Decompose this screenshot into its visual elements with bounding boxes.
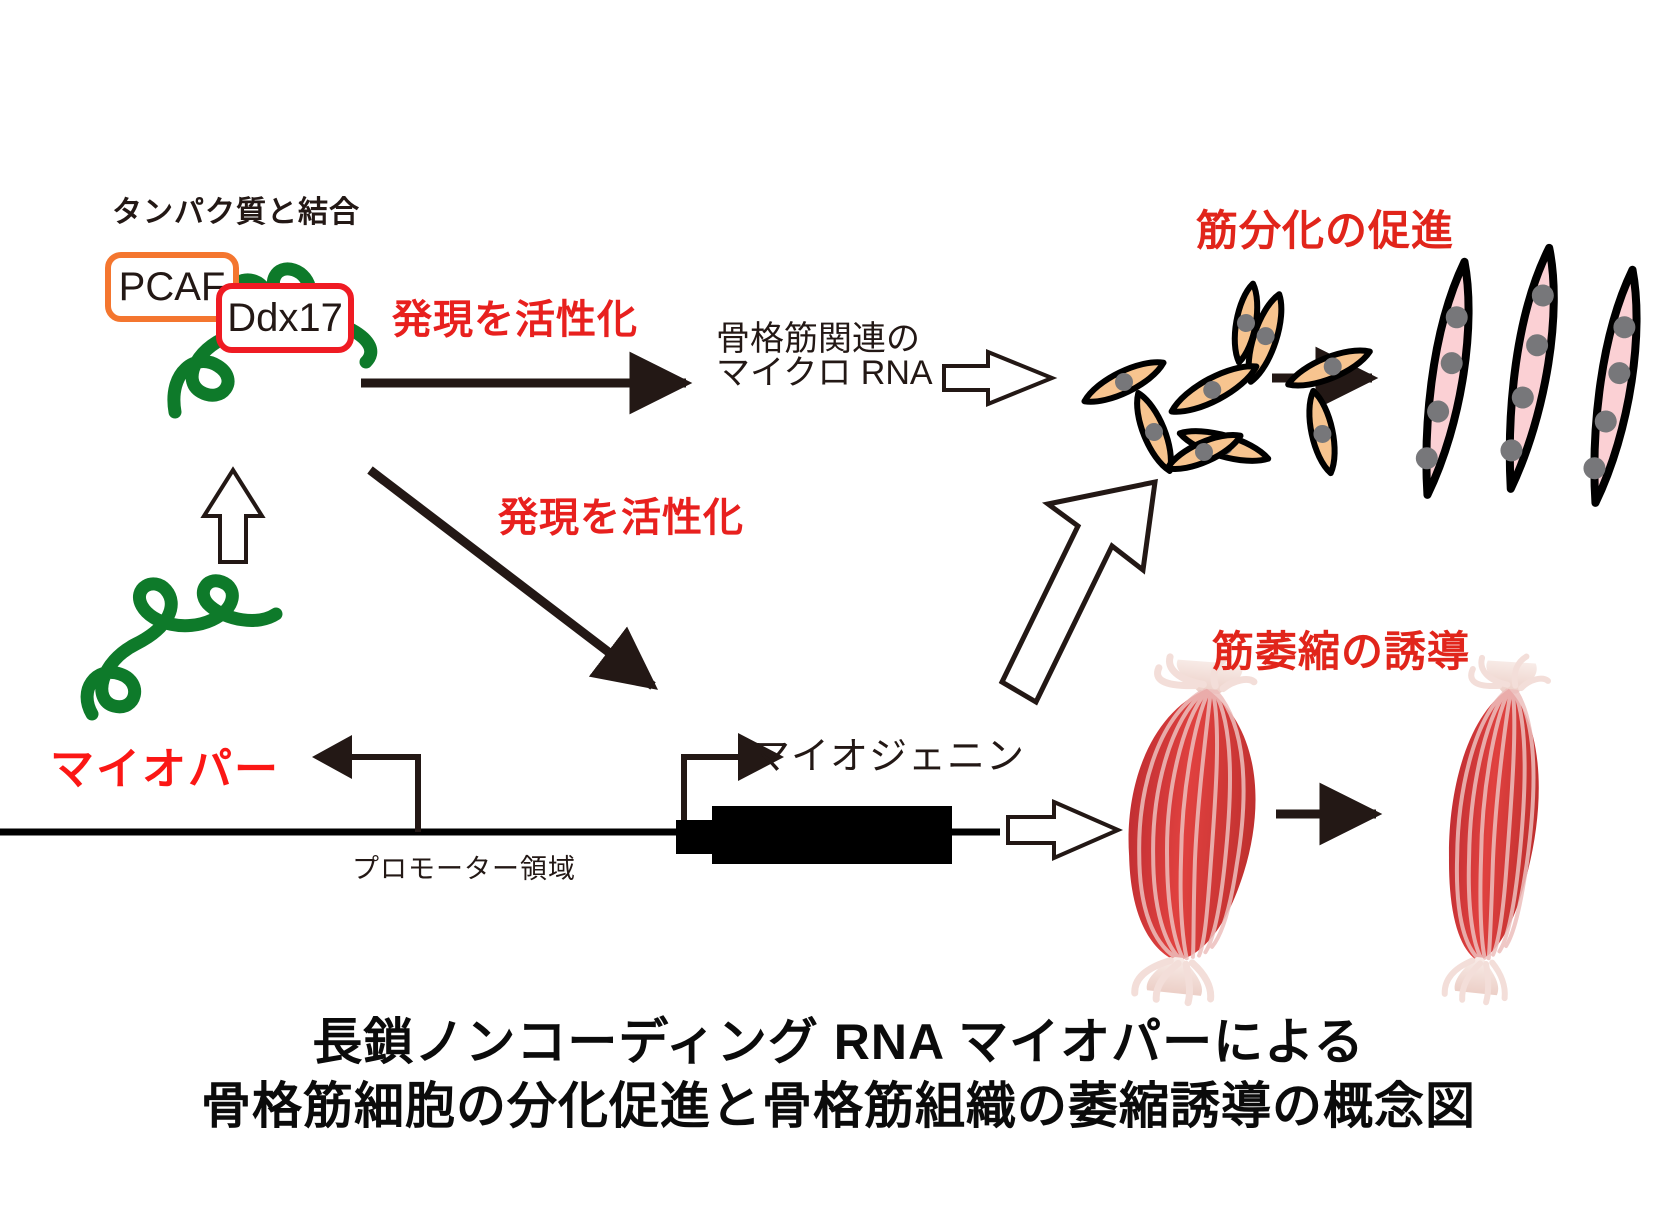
figure-caption: 長鎖ノンコーディング RNA マイオパーによる 骨格筋細胞の分化促進と骨格筋組織… — [0, 1010, 1677, 1138]
gene-exon-block-icon — [676, 806, 1000, 864]
myoblast-cells-icon — [1080, 282, 1374, 477]
myotube-fibers-icon — [1410, 246, 1651, 506]
myogenin-label: マイオジェニン — [752, 738, 1025, 776]
green-rna-squiggle-icon — [87, 581, 276, 714]
caption-line-2: 骨格筋細胞の分化促進と骨格筋組織の萎縮誘導の概念図 — [0, 1074, 1677, 1138]
hollow-right-arrow-icon — [944, 352, 1052, 404]
hollow-diagonal-arrow-icon — [1002, 482, 1155, 702]
skeletal-muscle-icon — [1111, 648, 1271, 1007]
protein-binding-label: タンパク質と結合 — [112, 198, 360, 228]
muscle-atrophy-label: 筋萎縮の誘導 — [1212, 631, 1470, 673]
myopar-label: マイオパー — [50, 748, 280, 792]
activate-expression-label-1: 発現を活性化 — [392, 300, 638, 340]
promoter-region-label: プロモーター領域 — [352, 856, 576, 883]
skeletal-microrna-line2: マイクロ RNA — [716, 356, 933, 390]
caption-line-1: 長鎖ノンコーディング RNA マイオパーによる — [0, 1010, 1677, 1074]
diagram-canvas: PCAF Ddx17 タンパク質と結合 発現を活性化 発現を活性化 骨格筋関連の… — [0, 0, 1677, 1228]
hollow-up-arrow-icon — [204, 470, 262, 562]
ddx17-label: Ddx17 — [227, 296, 343, 341]
atrophied-skeletal-muscle-icon — [1432, 650, 1554, 1005]
skeletal-microrna-label: 骨格筋関連の マイクロ RNA — [716, 322, 933, 390]
transcription-start-arrow-left-icon — [312, 735, 418, 832]
muscle-differentiation-label: 筋分化の促進 — [1196, 210, 1454, 252]
hollow-right-arrow-icon — [1008, 802, 1118, 858]
pcaf-label: PCAF — [119, 265, 226, 310]
skeletal-microrna-line1: 骨格筋関連の — [716, 322, 933, 356]
protein-label-ddx17[interactable]: Ddx17 — [216, 283, 354, 353]
activate-expression-label-2: 発現を活性化 — [498, 498, 744, 538]
